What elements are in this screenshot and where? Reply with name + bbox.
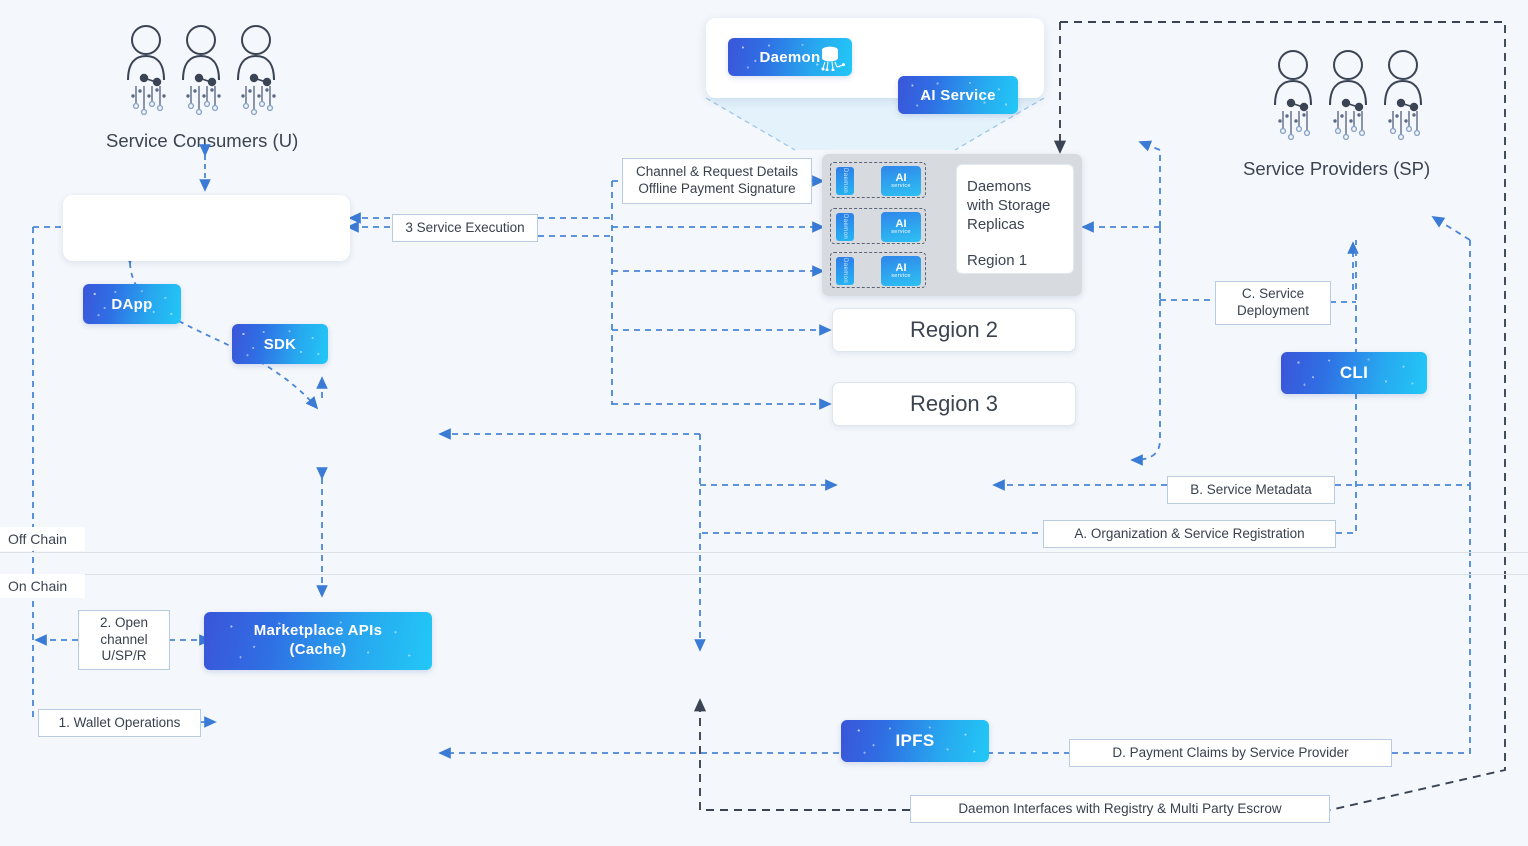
open-channel-label-box: 2. Open channel U/SP/R [78,610,170,670]
region1-card-line1: Daemons [967,177,1063,196]
region3-node[interactable]: Region 3 [832,382,1076,426]
architecture-diagram: Service Consumers (U) Service Providers … [0,0,1528,846]
service-execution-label-box: 3 Service Execution [392,214,538,242]
ipfs-label: IPFS [896,731,935,751]
service-execution-label: 3 Service Execution [405,220,524,237]
off-chain-divider [0,552,1528,553]
wallet-operations-label-box: 1. Wallet Operations [38,709,201,737]
sdk-label: SDK [264,336,297,353]
replica-1-daemon-label: Daemon [836,167,854,195]
replica-1-ai-sub: service [891,184,911,190]
region1-card-line2: with Storage [967,196,1063,215]
channel-request-line2: Offline Payment Signature [638,181,795,198]
service-providers-people-icon [1255,45,1455,155]
replica-2-daemon-label: Daemon [836,213,854,241]
marketplace-apis-line1: Marketplace APIs [254,622,382,641]
replica-3-daemon-label: Daemon [836,257,854,285]
region3-label: Region 3 [910,391,998,417]
database-icon [816,45,846,71]
marketplace-apis-line2: (Cache) [289,641,346,660]
cli-node[interactable]: CLI [1281,352,1427,394]
service-deployment-line2: Deployment [1237,303,1309,320]
region1-replica-2[interactable]: Daemon AI service [830,208,926,244]
service-deployment-line1: C. Service [1242,286,1304,303]
region2-node[interactable]: Region 2 [832,308,1076,352]
ai-service-chip[interactable]: AI Service [898,76,1018,114]
service-consumers-label: Service Consumers (U) [106,130,298,152]
channel-request-details-label-box: Channel & Request Details Offline Paymen… [622,158,812,204]
service-consumers-people-icon [108,20,308,130]
ai-service-chip-label: AI Service [920,87,996,104]
off-chain-label: Off Chain [8,531,67,547]
region1-replica-3[interactable]: Daemon AI service [830,252,926,288]
open-channel-line1: 2. Open [100,615,148,632]
replica-3-ai-service: AI service [881,256,921,286]
replica-2-ai-service: AI service [881,212,921,242]
region1-replica-1[interactable]: Daemon AI service [830,162,926,198]
region1-name: Region 1 [967,251,1063,270]
replica-3-ai-sub: service [891,274,911,280]
region1-container: Daemon AI service Daemon AI service Daem… [822,154,1082,296]
daemon-interfaces-label: Daemon Interfaces with Registry & Multi … [958,801,1281,818]
channel-request-line1: Channel & Request Details [636,164,798,181]
payment-claims-label: D. Payment Claims by Service Provider [1112,745,1348,762]
dapp-label: DApp [111,296,152,313]
cli-label: CLI [1340,363,1368,383]
on-chain-tag: On Chain [0,574,85,598]
org-service-registration-label: A. Organization & Service Registration [1074,526,1304,543]
daemon-chip-label: Daemon [760,49,821,66]
service-metadata-label-box: B. Service Metadata [1167,476,1335,504]
ipfs-node[interactable]: IPFS [841,720,989,762]
org-service-registration-label-box: A. Organization & Service Registration [1043,520,1336,548]
off-chain-tag: Off Chain [0,527,85,551]
replica-1-ai-service: AI service [881,166,921,196]
daemon-chip[interactable]: Daemon [728,38,852,76]
on-chain-divider [0,574,1528,575]
daemon-interfaces-label-box: Daemon Interfaces with Registry & Multi … [910,795,1330,823]
dapp-node[interactable]: DApp [83,284,181,324]
marketplace-apis-node[interactable]: Marketplace APIs (Cache) [204,612,432,670]
replica-2-ai-sub: service [891,230,911,236]
service-providers-label: Service Providers (SP) [1243,158,1430,180]
sdk-node[interactable]: SDK [232,324,328,364]
region2-label: Region 2 [910,317,998,343]
service-deployment-label-box: C. Service Deployment [1215,281,1331,325]
wallet-operations-label: 1. Wallet Operations [59,715,181,732]
region1-card-line3: Replicas [967,215,1063,234]
client-stack-card [63,195,350,261]
payment-claims-label-box: D. Payment Claims by Service Provider [1069,739,1392,767]
region1-info-card: Daemons with Storage Replicas Region 1 [956,164,1074,274]
open-channel-line3: U/SP/R [101,648,146,665]
on-chain-label: On Chain [8,578,67,594]
service-metadata-label: B. Service Metadata [1190,482,1312,499]
open-channel-line2: channel [100,632,147,649]
